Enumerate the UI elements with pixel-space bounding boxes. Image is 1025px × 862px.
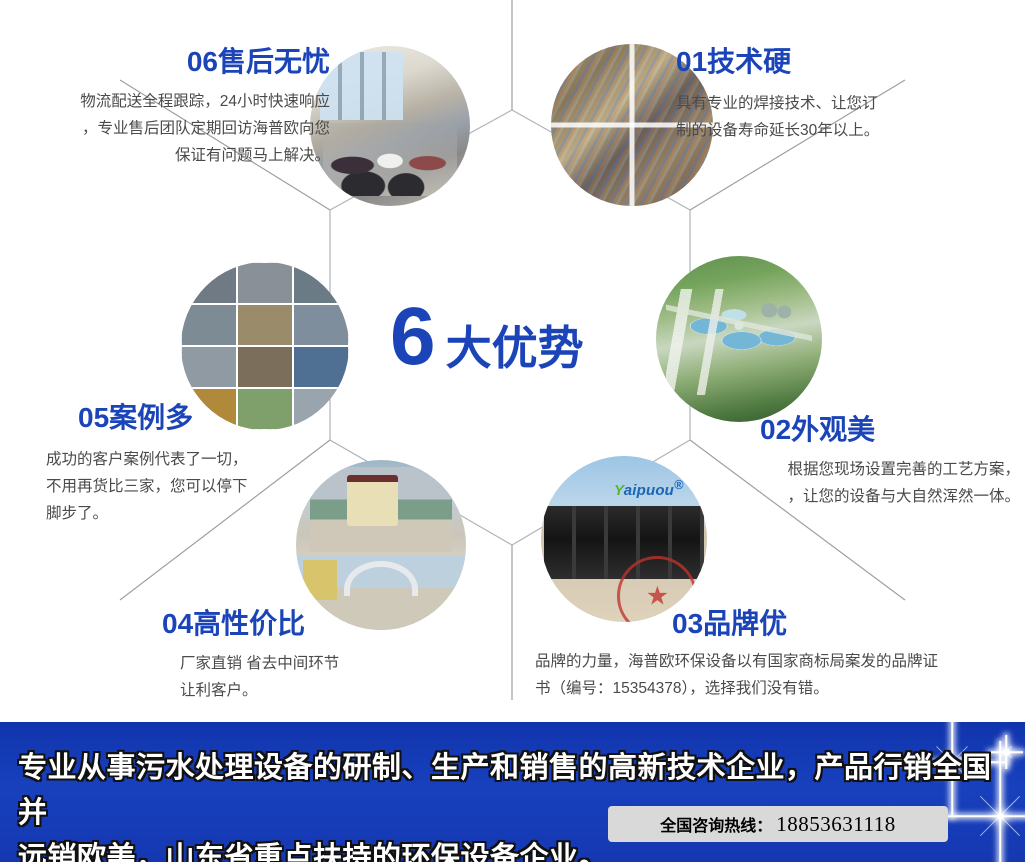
feature-body-04: 厂家直销 省去中间环节 让利客户。 <box>180 650 510 704</box>
feature-body-06-line-1: 物流配送全程跟踪，24小时快速响应 <box>0 88 330 115</box>
feature-heading-03: 03品牌优 <box>672 610 992 638</box>
feature-body-06: 物流配送全程跟踪，24小时快速响应 ，专业售后团队定期回访海普欧向您 保证有问题… <box>0 88 330 169</box>
feature-body-04-line-1: 厂家直销 省去中间环节 <box>180 650 510 677</box>
feature-heading-05: 05案例多 <box>78 404 378 432</box>
feature-body-05: 成功的客户案例代表了一切， 不用再货比三家，您可以停下 脚步了。 <box>46 446 376 527</box>
center-label: 6 大优势 <box>390 296 584 378</box>
feature-body-03-line-2: 书（编号：15354378），选择我们没有错。 <box>535 675 1025 702</box>
feature-heading-04: 04高性价比 <box>162 610 482 638</box>
feature-body-01-line-2: 制的设备寿命延长30年以上。 <box>676 117 1016 144</box>
feature-body-03-line-1: 品牌的力量，海普欧环保设备以有国家商标局案发的品牌证 <box>535 648 1025 675</box>
feature-heading-02: 02外观美 <box>760 416 1020 444</box>
feature-photo-02 <box>656 256 822 422</box>
feature-heading-01: 01技术硬 <box>676 48 1016 76</box>
hotline-number: 18853631118 <box>776 812 895 837</box>
hotline-box[interactable]: 全国咨询热线： 18853631118 <box>608 806 948 842</box>
center-text: 大优势 <box>446 325 584 371</box>
feature-body-02-line-1: 根据您现场设置完善的工艺方案， <box>640 456 1020 483</box>
feature-body-05-line-2: 不用再货比三家，您可以停下 <box>46 473 376 500</box>
feature-body-05-line-1: 成功的客户案例代表了一切， <box>46 446 376 473</box>
feature-body-04-line-2: 让利客户。 <box>180 677 510 704</box>
feature-photo-06 <box>310 46 470 206</box>
feature-body-01-line-1: 具有专业的焊接技术、让您订 <box>676 90 1016 117</box>
promo-page: Yaipuou® 06售后无忧 物流配送全程跟踪，24小时快速响应 ，专业售后团… <box>0 0 1025 862</box>
hotline-label: 全国咨询热线： <box>660 812 772 836</box>
center-number: 6 <box>390 296 434 378</box>
feature-body-02-line-2: ，让您的设备与大自然浑然一体。 <box>640 483 1020 510</box>
feature-body-06-line-3: 保证有问题马上解决。 <box>0 142 330 169</box>
feature-body-06-line-2: ，专业售后团队定期回访海普欧向您 <box>0 115 330 142</box>
banner-text: 专业从事污水处理设备的研制、生产和销售的高新技术企业，产品行销全国并 远销欧美，… <box>18 746 1008 862</box>
feature-body-05-line-3: 脚步了。 <box>46 500 376 527</box>
feature-body-03: 品牌的力量，海普欧环保设备以有国家商标局案发的品牌证 书（编号：15354378… <box>535 648 1025 702</box>
feature-body-02: 根据您现场设置完善的工艺方案， ，让您的设备与大自然浑然一体。 <box>640 456 1020 510</box>
feature-body-01: 具有专业的焊接技术、让您订 制的设备寿命延长30年以上。 <box>676 90 1016 144</box>
feature-heading-06: 06售后无忧 <box>0 48 330 76</box>
